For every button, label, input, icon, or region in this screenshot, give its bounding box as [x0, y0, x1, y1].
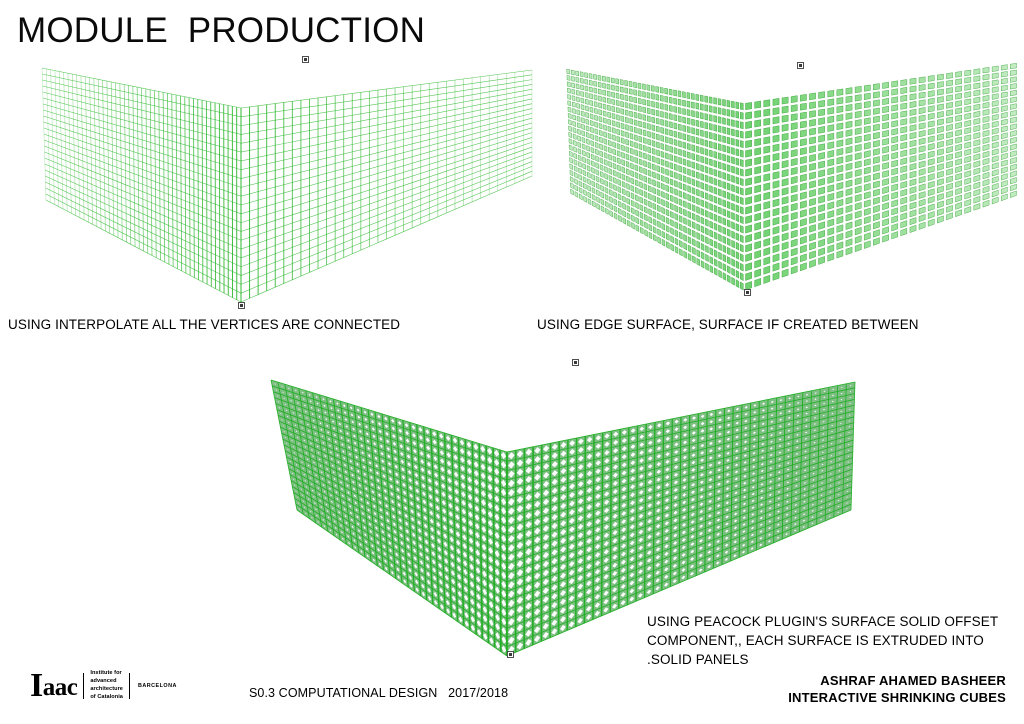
control-point-marker[interactable]	[744, 289, 751, 296]
control-point-marker[interactable]	[302, 56, 309, 63]
project-name: INTERACTIVE SHRINKING CUBES	[788, 690, 1006, 707]
logo-divider	[83, 673, 84, 699]
control-point-marker[interactable]	[572, 359, 579, 366]
caption-solid-offset: USING PEACOCK PLUGIN'S SURFACE SOLID OFF…	[647, 612, 998, 669]
footer-course-label: S0.3 COMPUTATIONAL DESIGN 2017/2018	[249, 686, 508, 700]
iaac-logo-tagline: Institute for advanced architecture of C…	[90, 670, 123, 702]
iaac-logo-letters-aac: aac	[43, 675, 78, 701]
page-title: MODULE PRODUCTION	[17, 13, 425, 50]
surface-mesh-svg	[552, 46, 1024, 308]
author-name: ASHRAF AHAMED BASHEER	[788, 673, 1006, 690]
control-point-marker[interactable]	[238, 302, 245, 309]
iaac-logo-city: BARCELONA	[138, 683, 177, 689]
iaac-logo-wordmark: Iaac	[30, 670, 77, 701]
caption-interpolate: USING INTERPOLATE ALL THE VERTICES ARE C…	[8, 315, 400, 334]
figure-edge-surface-mesh	[552, 46, 1024, 308]
figure-interpolated-vertices-wireframe	[20, 50, 550, 320]
wireframe-mesh-svg	[20, 50, 550, 320]
logo-divider	[129, 673, 130, 699]
presentation-board: MODULE PRODUCTION USING INTERPOLATE ALL …	[0, 0, 1024, 724]
caption-edge-surface: USING EDGE SURFACE, SURFACE IF CREATED B…	[537, 315, 919, 334]
credit-block: ASHRAF AHAMED BASHEER INTERACTIVE SHRINK…	[788, 673, 1006, 706]
control-point-marker[interactable]	[797, 62, 804, 69]
iaac-logo: Iaac Institute for advanced architecture…	[30, 669, 177, 703]
iaac-logo-letter-i: I	[30, 670, 43, 701]
control-point-marker[interactable]	[507, 651, 514, 658]
